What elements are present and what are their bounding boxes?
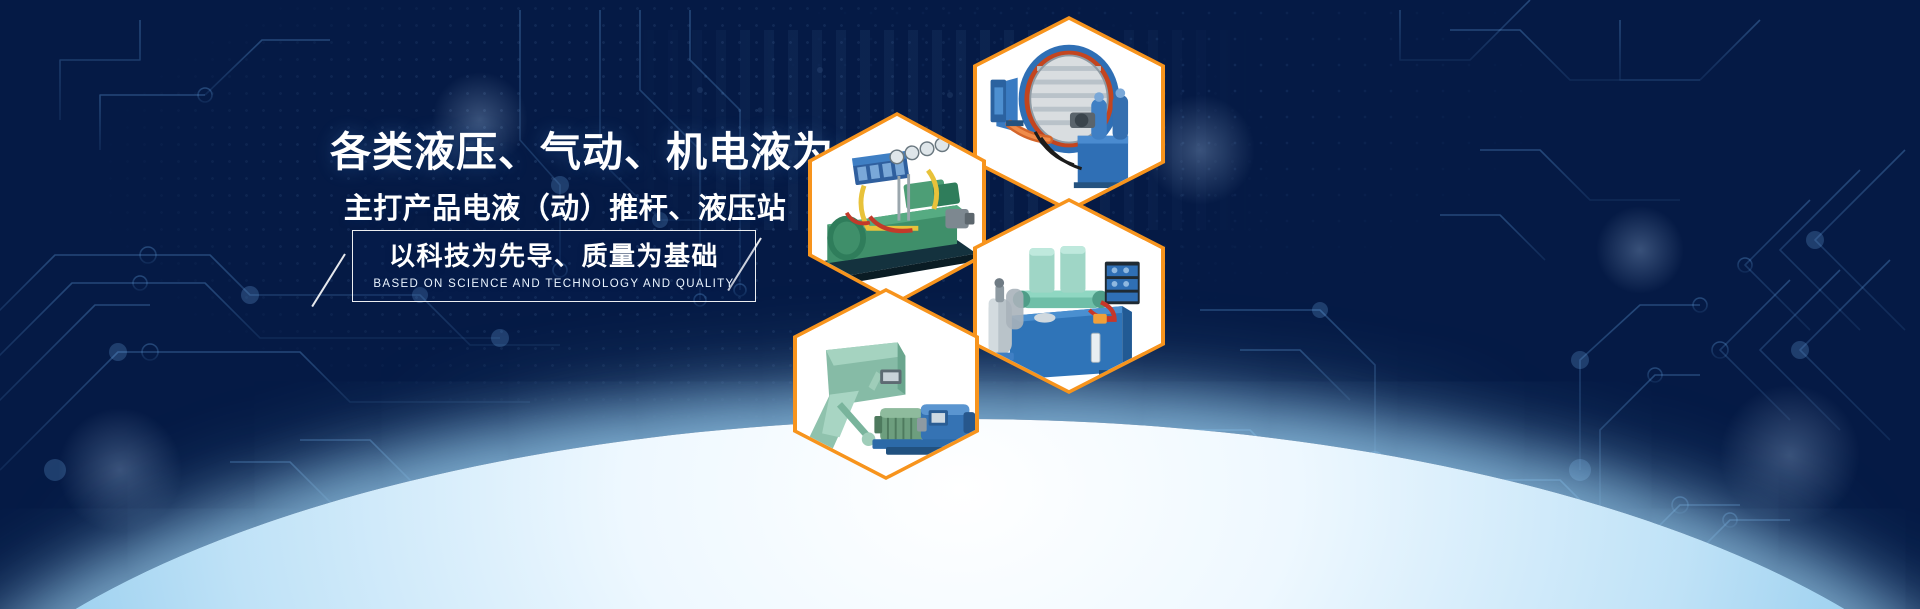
banner-headline: 各类液压、气动、机电液为一体 [330, 128, 800, 176]
slogan-block: 以科技为先导、质量为基础 BASED ON SCIENCE AND TECHNO… [330, 230, 800, 310]
banner-subline: 主打产品电液（动）推杆、液压站 [330, 185, 800, 227]
slogan-frame: 以科技为先导、质量为基础 BASED ON SCIENCE AND TECHNO… [352, 230, 756, 302]
hero-banner: 各类液压、气动、机电液为一体 主打产品电液（动）推杆、液压站 以科技为先导、质量… [0, 0, 1920, 609]
slogan-english: BASED ON SCIENCE AND TECHNOLOGY AND QUAL… [373, 278, 734, 290]
slogan-chinese: 以科技为先导、质量为基础 [389, 242, 719, 271]
